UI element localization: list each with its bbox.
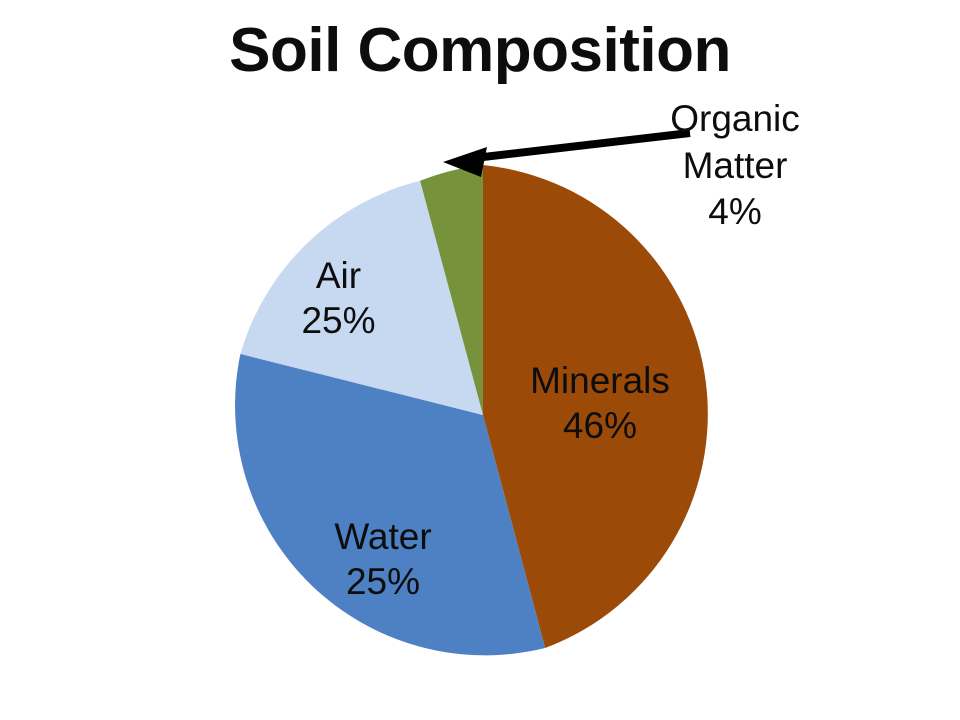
pie-label-water-value: 25% (268, 559, 498, 604)
pie-label-organic-matter-value: 4% (620, 189, 850, 236)
slide-canvas: Soil Composition Minerals 46% Water 25% (0, 0, 960, 720)
pie-label-water-name: Water (268, 514, 498, 559)
pie-label-air-name: Air (236, 253, 441, 298)
pie-label-minerals: Minerals 46% (470, 358, 730, 448)
pie-label-water: Water 25% (268, 514, 498, 604)
pie-label-minerals-name: Minerals (470, 358, 730, 403)
pie-label-minerals-value: 46% (470, 403, 730, 448)
pie-chart: Minerals 46% Water 25% Air 25% Organic M… (0, 0, 960, 720)
pie-label-organic-matter-name-line1: Organic (620, 96, 850, 143)
pie-label-organic-matter-name-line2: Matter (620, 143, 850, 190)
pie-label-air: Air 25% (236, 253, 441, 343)
pie-label-air-value: 25% (236, 298, 441, 343)
pie-label-organic-matter: Organic Matter 4% (620, 96, 850, 236)
